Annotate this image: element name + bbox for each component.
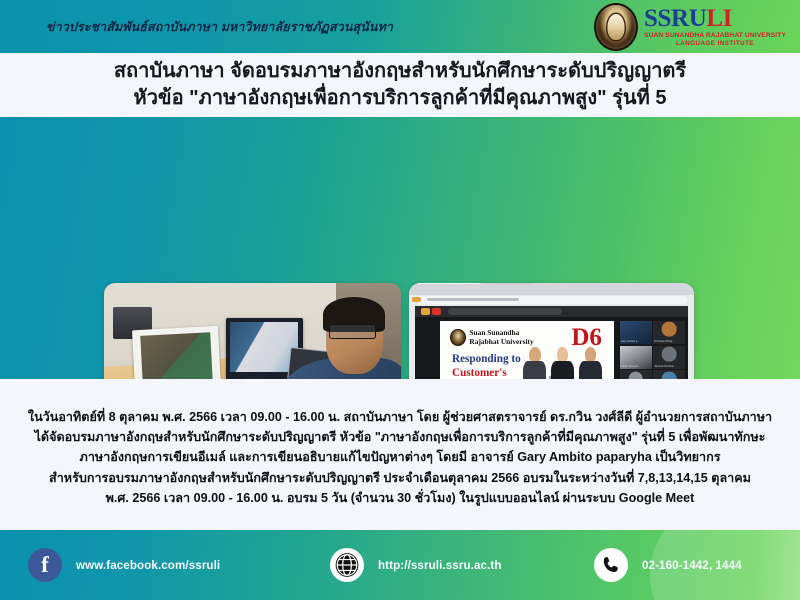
browser-address-bar [416, 296, 687, 304]
browser-tab-active [418, 283, 481, 284]
participant-tile[interactable]: Kawin Wongsil... [620, 346, 652, 369]
header-band: ข่าวประชาสัมพันธ์สถาบันภาษา มหาวิทยาลัยร… [0, 0, 800, 53]
participant-tile[interactable]: Dr.Kawin Wong... [653, 321, 685, 344]
header-kicker-text: ข่าวประชาสัมพันธ์สถาบันภาษา มหาวิทยาลัยร… [46, 17, 393, 37]
meet-toolbar [415, 306, 687, 317]
body-text-line-1: ในวันอาทิตย์ที่ 8 ตุลาคม พ.ศ. 2566 เวลา … [28, 407, 772, 427]
participant-name: Sirinuch Nimcha... [654, 365, 675, 368]
body-text-line-5: พ.ศ. 2566 เวลา 09.00 - 16.00 น. อบรม 5 ว… [106, 488, 695, 508]
facebook-icon[interactable]: f [28, 548, 62, 582]
meet-share-notice-bar [448, 308, 562, 315]
browser-ext-icon-1 [412, 297, 421, 302]
university-seal-icon [594, 3, 638, 51]
glasses-icon [329, 324, 375, 339]
brand-wordmark: SSRULI [644, 6, 786, 31]
brand-text-block: SSRULI SUAN SUNANDHA RAJABHAT UNIVERSITY… [644, 6, 786, 47]
browser-tabstrip [409, 283, 694, 295]
body-text-line-4: สำหรับการอบรมภาษาอังกฤษสำหรับนักศึกษาระด… [49, 468, 751, 488]
globe-icon[interactable] [330, 548, 364, 582]
footer-facebook-text: www.facebook.com/ssruli [76, 559, 220, 572]
brand-lockup: SSRULI SUAN SUNANDHA RAJABHAT UNIVERSITY… [594, 3, 786, 51]
poster-canvas: ข่าวประชาสัมพันธ์สถาบันภาษา มหาวิทยาลัยร… [0, 0, 800, 600]
photo-band: Suan Sunandha Rajabhat University D6 Res… [0, 117, 800, 379]
participant-name: Dr.Kawin Wong... [654, 340, 674, 343]
slide-university-name: Suan Sunandha Rajabhat University [469, 328, 533, 347]
participant-tile[interactable]: Sirinuch Nimcha... [653, 346, 685, 369]
brand-wordmark-blue: SSRU [644, 5, 706, 32]
participant-avatar [662, 322, 677, 337]
body-text-band: ในวันอาทิตย์ที่ 8 ตุลาคม พ.ศ. 2566 เวลา … [0, 379, 800, 530]
slide-deck-code: D6 [571, 325, 602, 350]
participant-tile[interactable]: Gary Ambito p... [620, 321, 652, 344]
slide-heading-line-1: Responding to [452, 353, 521, 367]
participant-name: Kawin Wongsil... [621, 365, 640, 368]
slide-university-line-2: Rajabhat University [469, 337, 533, 346]
brand-subtitle-university: SUAN SUNANDHA RAJABHAT UNIVERSITY [644, 33, 786, 40]
footer-phone-item[interactable]: 02-160-1442, 1444 [594, 548, 742, 582]
meet-toolbar-icon-2[interactable] [432, 308, 441, 315]
body-text-line-3: ภาษาอังกฤษการเขียนอีเมล์ และการเขียนอธิบ… [80, 447, 721, 467]
footer-facebook-item[interactable]: f www.facebook.com/ssruli [28, 548, 220, 582]
footer-band: f www.facebook.com/ssruli http://ssruli.… [0, 530, 800, 600]
participant-name: Gary Ambito p... [621, 340, 640, 343]
page-title-line-2: หัวข้อ "ภาษาอังกฤษเพื่อการบริการลูกค้าที… [134, 87, 667, 111]
phone-icon[interactable] [594, 548, 628, 582]
meet-toolbar-icon-1[interactable] [421, 308, 430, 315]
slide-university-seal-icon [450, 329, 466, 346]
participant-avatar [662, 347, 677, 362]
footer-website-item[interactable]: http://ssruli.ssru.ac.th [330, 548, 502, 582]
brand-subtitle-institute: LANGUAGE INSTITUTE [644, 41, 786, 47]
title-band: สถาบันภาษา จัดอบรมภาษาอังกฤษสำหรับนักศึก… [0, 53, 800, 117]
footer-phone-text: 02-160-1442, 1444 [642, 559, 742, 572]
brand-wordmark-red: LI [706, 5, 732, 32]
footer-website-text: http://ssruli.ssru.ac.th [378, 559, 502, 572]
slide-university-line-1: Suan Sunandha [469, 328, 533, 337]
body-text-line-2: ได้จัดอบรมภาษาอังกฤษสำหรับนักศึกษาระดับป… [35, 427, 766, 447]
facebook-glyph: f [41, 553, 49, 576]
page-title-line-1: สถาบันภาษา จัดอบรมภาษาอังกฤษสำหรับนักศึก… [114, 60, 686, 84]
